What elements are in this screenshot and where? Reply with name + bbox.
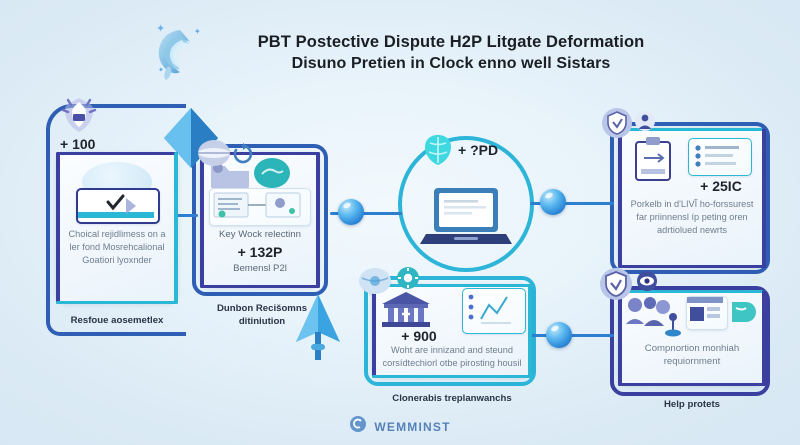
document-diagram-icon bbox=[209, 188, 311, 226]
svg-text:✦: ✦ bbox=[156, 23, 165, 35]
panel-help-protects[interactable]: Compnortion monhiah requiornment bbox=[618, 290, 766, 386]
panel4-body: Woht are innizand and steund corsídtechi… bbox=[379, 344, 525, 370]
panel4-value: + 900 bbox=[376, 328, 462, 344]
globe-disc-icon bbox=[196, 138, 232, 173]
lamp-icon bbox=[662, 310, 684, 343]
cyan-brain-icon bbox=[420, 132, 456, 173]
chart-window-icon bbox=[462, 288, 526, 334]
browser-window-icon bbox=[686, 296, 728, 330]
checklist-card-icon bbox=[76, 188, 160, 224]
gear-circle-icon bbox=[396, 266, 420, 295]
wire-hub-bottom bbox=[530, 334, 614, 337]
panel2-label: Key Wock relectinn bbox=[207, 228, 313, 241]
panel4-caption: Clonerabis treplanwanchs bbox=[362, 392, 542, 405]
panel3-value: + 25IC bbox=[680, 178, 762, 194]
title-line-1: PBT Postective Dispute H2P Litgate Defor… bbox=[222, 32, 680, 53]
recycle-arrows-icon bbox=[232, 143, 254, 170]
svg-text:✦: ✦ bbox=[194, 27, 201, 36]
clipboard-icon bbox=[632, 136, 674, 189]
watermark-text: WEMMINST bbox=[374, 420, 450, 434]
title-line-2: Disuno Pretien in Clock enno well Sistar… bbox=[222, 53, 680, 74]
shield-globe-icon-2 bbox=[598, 266, 634, 307]
shield-globe-icon bbox=[600, 106, 634, 145]
panel5-caption: Help protets bbox=[618, 398, 766, 411]
panel-body-text: Choical rejidlimess on a ler fond Mosreh… bbox=[63, 228, 171, 267]
svg-text:✦: ✦ bbox=[158, 66, 164, 74]
connector-node-3[interactable] bbox=[546, 322, 572, 348]
page-title: PBT Postective Dispute H2P Litgate Defor… bbox=[222, 32, 680, 74]
user-person-icon bbox=[634, 110, 656, 137]
panel5-body: Compnortion monhiah requiornment bbox=[625, 342, 759, 368]
panel-clonerable-treplanwanchs[interactable]: + 900 Woht are innizand and steund corsí… bbox=[372, 284, 532, 378]
hub-value: + ?PD bbox=[458, 142, 518, 158]
purple-shield-badge-icon bbox=[58, 94, 100, 141]
infographic-canvas: ✦ ✦ ✦ PBT Postective Dispute H2P Litgate… bbox=[0, 0, 800, 445]
header: ✦ ✦ ✦ PBT Postective Dispute H2P Litgate… bbox=[150, 14, 680, 92]
spiral-shell-logo-icon: ✦ ✦ ✦ bbox=[150, 22, 208, 84]
blue-globe-icon bbox=[358, 266, 392, 301]
panel-resource-assessment[interactable]: Choical rejidlimess on a ler fond Mosreh… bbox=[56, 152, 178, 304]
spiral-logo-icon bbox=[349, 415, 367, 438]
panel1-caption: Resfoue aosemetlex bbox=[56, 314, 178, 327]
list-window-icon bbox=[688, 138, 752, 176]
connector-node-2[interactable] bbox=[540, 189, 566, 215]
laptop-icon bbox=[420, 186, 512, 257]
footer-watermark: WEMMINST bbox=[0, 415, 800, 438]
panel2-subvalue: Bemensl P2l bbox=[207, 262, 313, 275]
eye-circle-icon bbox=[636, 270, 658, 297]
teal-shape-icon bbox=[728, 298, 758, 333]
panel2-caption: Dunbon Recišomns ditiniution bbox=[196, 302, 328, 328]
connector-node-1[interactable] bbox=[338, 199, 364, 225]
panel-protection-requirements[interactable]: + 25IC Porkelb in d'LIVĨ ho-forssurest … bbox=[618, 128, 766, 268]
panel2-value: + 132P bbox=[200, 244, 320, 260]
wire-p1-p2 bbox=[176, 214, 198, 217]
panel3-body: Porkelb in d'LIVĨ ho-forssurest far pri… bbox=[625, 198, 759, 237]
